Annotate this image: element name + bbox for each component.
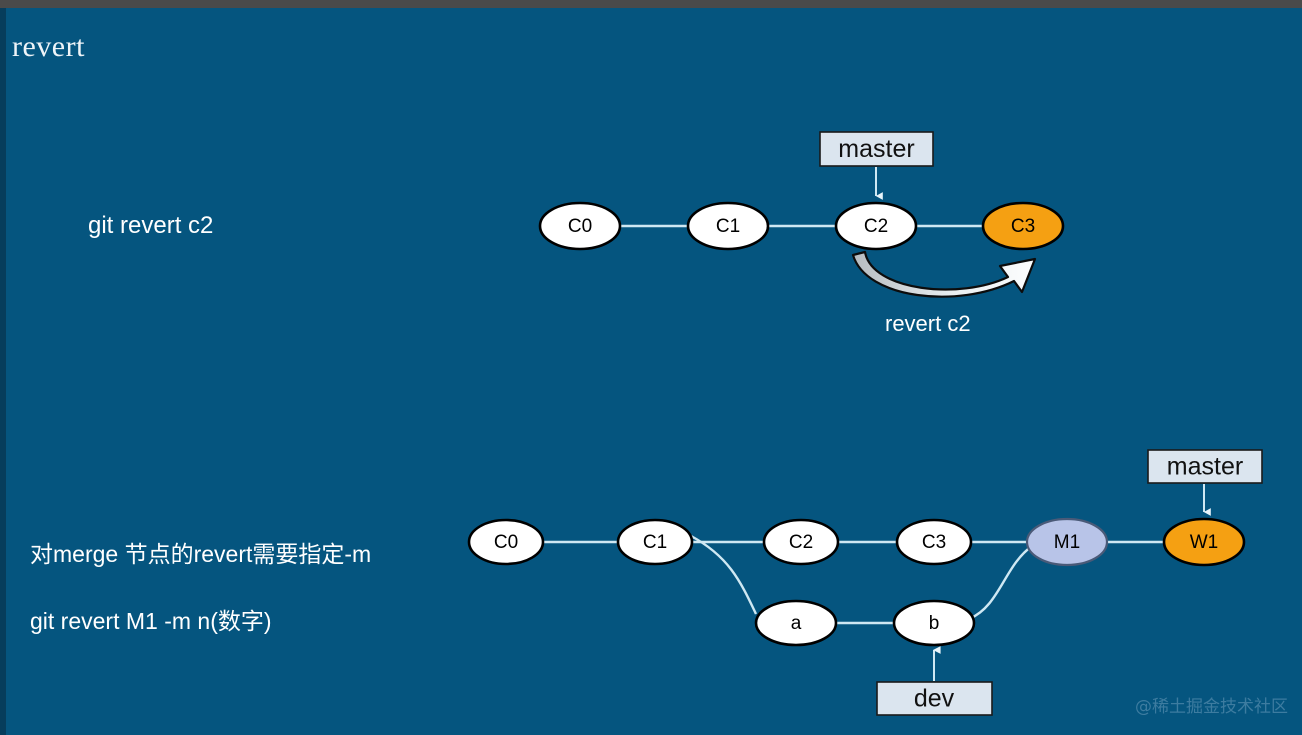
node-w1[interactable]: W1 xyxy=(1164,519,1244,565)
node-c3-bottom[interactable]: C3 xyxy=(897,520,971,564)
branch-label-dev[interactable]: dev xyxy=(877,682,992,715)
node-m1[interactable]: M1 xyxy=(1027,519,1107,565)
node-c1-bottom[interactable]: C1 xyxy=(618,520,692,564)
branch-curve-c1-to-a xyxy=(691,536,756,614)
caption-merge-revert-note: 对merge 节点的revert需要指定-m xyxy=(30,535,371,569)
node-c0-bottom[interactable]: C0 xyxy=(469,520,543,564)
watermark: @稀土掘金技术社区 xyxy=(1135,692,1288,717)
branch-label-master-bottom[interactable]: master xyxy=(1148,450,1262,483)
caption-merge-revert-command: git revert M1 -m n(数字) xyxy=(30,602,272,636)
node-c2-bottom[interactable]: C2 xyxy=(764,520,838,564)
node-b[interactable]: b xyxy=(894,601,974,645)
slide-canvas: revert master xyxy=(0,0,1302,735)
node-a[interactable]: a xyxy=(756,601,836,645)
merge-curve-b-to-m1 xyxy=(969,546,1032,619)
